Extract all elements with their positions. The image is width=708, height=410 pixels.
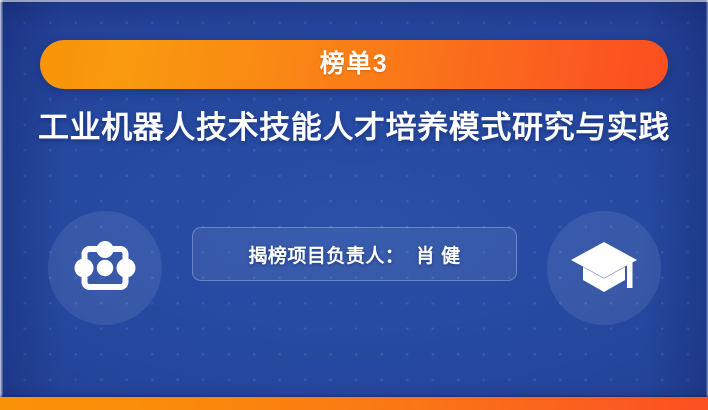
- poster-left-edge: [0, 0, 3, 410]
- project-leader-box: 揭榜项目负责人： 肖 健: [192, 227, 517, 281]
- banner-label: 榜单3: [320, 52, 388, 77]
- poster-top-edge: [0, 0, 708, 2]
- robot-icon-badge: [48, 211, 162, 325]
- robot-icon: [72, 235, 138, 301]
- project-leader-text: 揭榜项目负责人： 肖 健: [248, 241, 460, 268]
- footer-accent-bar: [0, 397, 708, 410]
- banner-pill[interactable]: 榜单3: [40, 40, 668, 89]
- poster-card: 榜单3 工业机器人技术技能人才培养模式研究与实践 揭榜项: [0, 0, 708, 410]
- page-title: 工业机器人技术技能人才培养模式研究与实践: [0, 100, 708, 148]
- graduation-cap-icon-badge: [547, 211, 661, 325]
- graduation-cap-icon: [569, 236, 639, 300]
